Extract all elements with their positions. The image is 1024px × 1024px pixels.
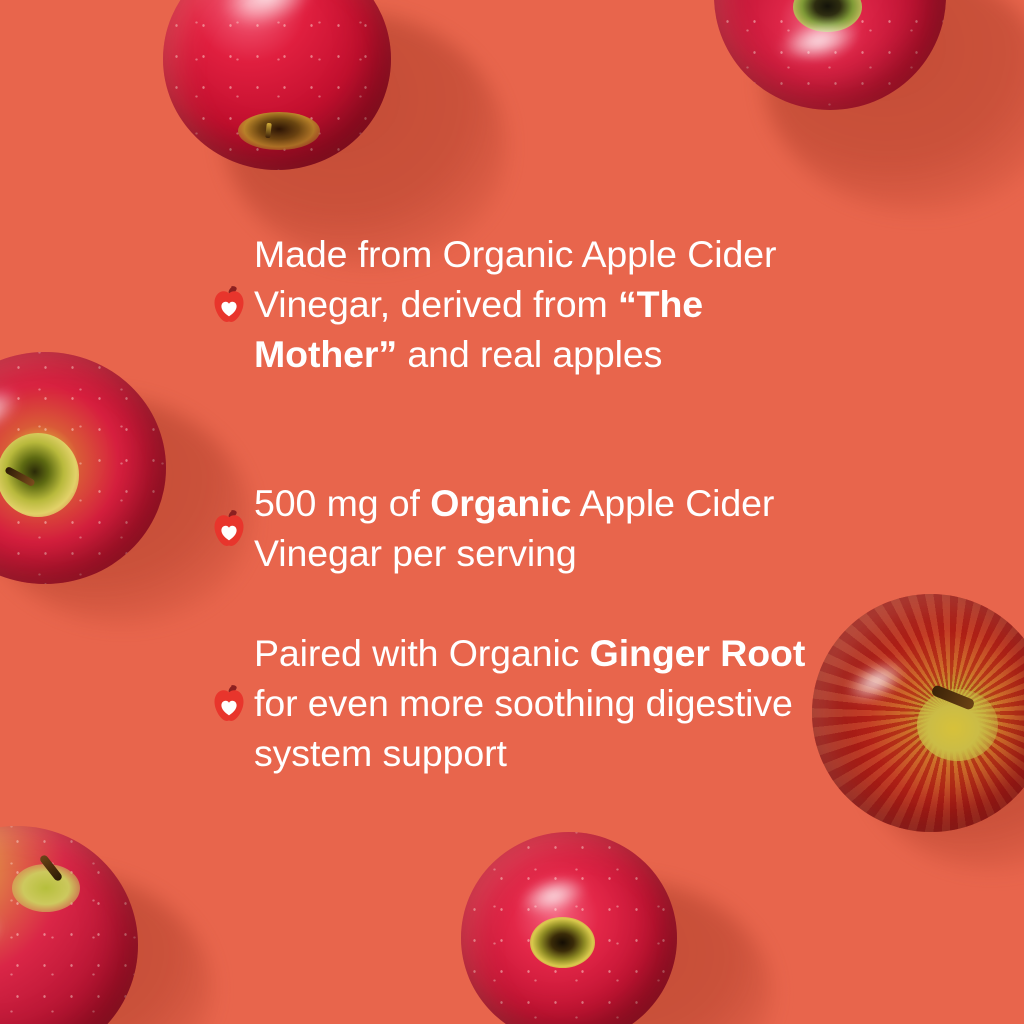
apple-bottom [461,832,677,1024]
benefit-text: Paired with Organic Ginger Root for even… [254,628,814,778]
apple-shading [0,826,138,1024]
apple-highlight [0,908,7,968]
apple-heart-icon [214,684,244,722]
apple-calyx [238,112,320,150]
apple-speckles [0,826,138,1024]
apple-highlight [216,0,321,36]
apple-heart-icon [214,509,244,547]
benefit-text: 500 mg of Organic Apple Cider Vinegar pe… [254,478,814,578]
benefit-item: Paired with Organic Ginger Root for even… [214,628,814,778]
benefits-graphic: Made from Organic Apple Cider Vinegar, d… [0,0,1024,1024]
apple-calyx [12,864,80,912]
apple-calyx [530,917,595,968]
benefit-item: Made from Organic Apple Cider Vinegar, d… [214,229,814,379]
apple-stem [265,123,272,138]
benefit-item: 500 mg of Organic Apple Cider Vinegar pe… [214,478,814,578]
apple-calyx [793,0,863,32]
benefit-text: Made from Organic Apple Cider Vinegar, d… [254,229,814,379]
apple-highlight [518,870,590,920]
apple-heart-icon [214,285,244,323]
apple-bottom-left [0,826,138,1024]
apple-right [812,594,1024,832]
